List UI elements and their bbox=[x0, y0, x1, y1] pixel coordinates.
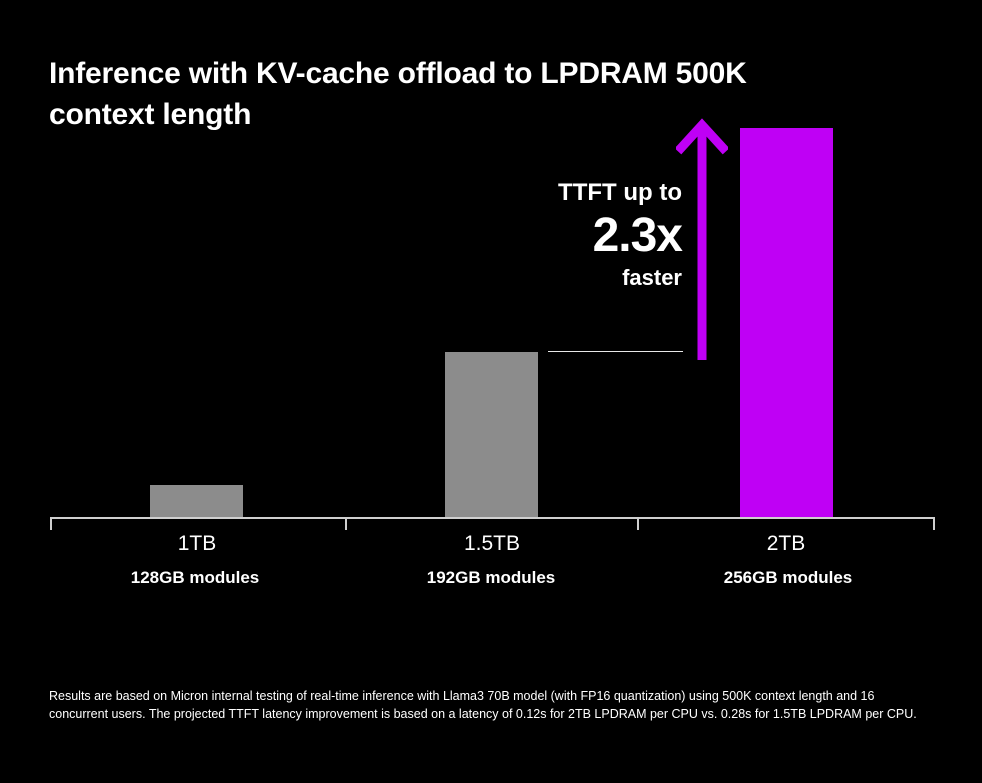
axis-tick-1 bbox=[345, 519, 347, 530]
ttft-callout: TTFT up to 2.3x faster bbox=[402, 178, 682, 292]
callout-suffix: faster bbox=[402, 264, 682, 292]
axis-tick-end bbox=[933, 519, 935, 530]
bar-1tb bbox=[150, 485, 243, 518]
callout-prefix: TTFT up to bbox=[402, 178, 682, 208]
bar-1-5tb bbox=[445, 352, 538, 518]
x-sublabel-1tb: 128GB modules bbox=[95, 568, 295, 588]
bar-2tb bbox=[740, 128, 833, 518]
plot-area: 1TB 128GB modules 1.5TB 192GB modules 2T… bbox=[0, 0, 982, 783]
x-label-1tb: 1TB bbox=[97, 532, 297, 556]
footnote-text: Results are based on Micron internal tes… bbox=[49, 688, 933, 723]
chart-canvas: Inference with KV-cache offload to LPDRA… bbox=[0, 0, 982, 783]
x-sublabel-2tb: 256GB modules bbox=[688, 568, 888, 588]
axis-tick-2 bbox=[637, 519, 639, 530]
up-arrow-icon bbox=[676, 118, 728, 362]
x-axis-line bbox=[50, 517, 935, 519]
x-sublabel-1-5tb: 192GB modules bbox=[391, 568, 591, 588]
x-label-1-5tb: 1.5TB bbox=[392, 532, 592, 556]
reference-line bbox=[548, 351, 683, 352]
callout-value: 2.3x bbox=[402, 208, 682, 264]
x-label-2tb: 2TB bbox=[686, 532, 886, 556]
axis-tick-start bbox=[50, 519, 52, 530]
